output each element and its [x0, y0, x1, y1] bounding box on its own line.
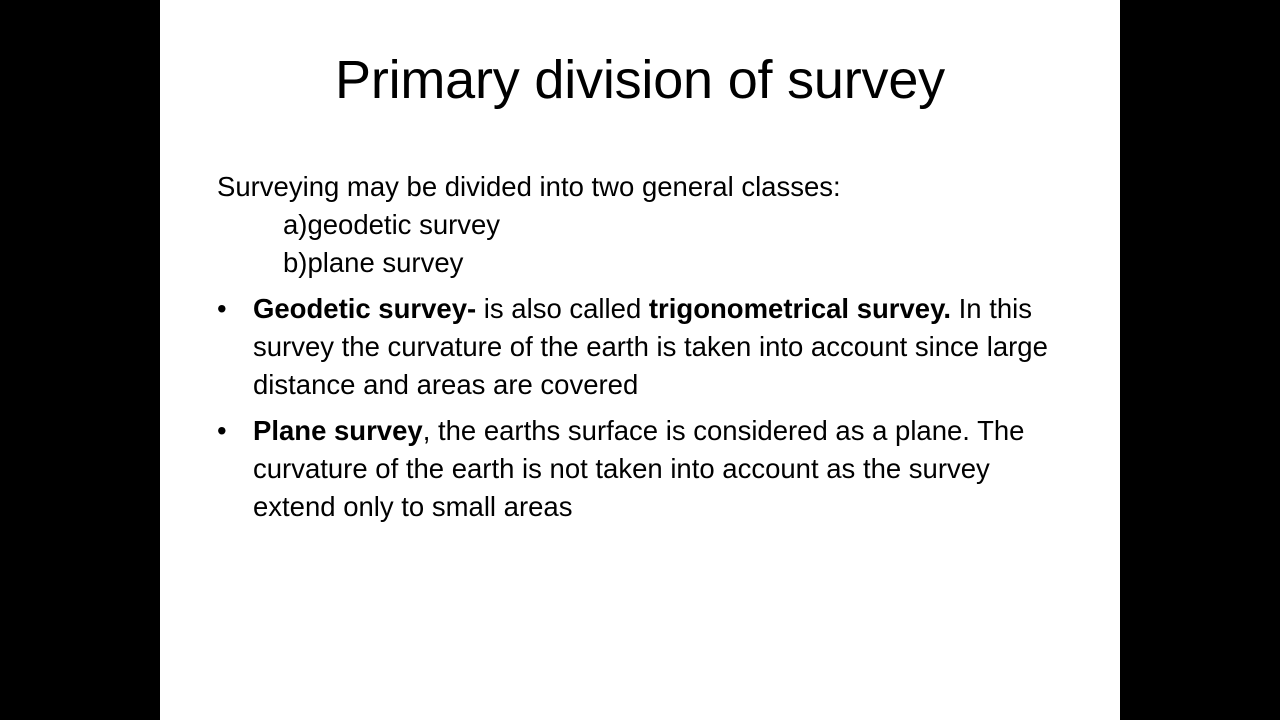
- intro-paragraph: Surveying may be divided into two genera…: [217, 168, 1062, 206]
- slide-title: Primary division of survey: [160, 48, 1120, 112]
- presentation-viewport: Primary division of survey Surveying may…: [0, 0, 1280, 720]
- letterbox-bar-right: [1120, 0, 1280, 720]
- bullet-dot-icon: •: [217, 412, 253, 450]
- slide-canvas: Primary division of survey Surveying may…: [160, 0, 1120, 720]
- letterbox-bar-left: [0, 0, 160, 720]
- bullet-run-0-2: trigonometrical survey.: [649, 293, 951, 324]
- bullet-dot-icon: •: [217, 290, 253, 328]
- slide-body: Surveying may be divided into two genera…: [217, 168, 1062, 526]
- bullet-run-1-0: Plane survey: [253, 415, 423, 446]
- bullet-run-0-0: Geodetic survey-: [253, 293, 476, 324]
- sub-item-a: a)geodetic survey: [217, 206, 1062, 244]
- sub-item-b: b)plane survey: [217, 244, 1062, 282]
- bullet-run-0-1: is also called: [476, 293, 649, 324]
- bullet-item-geodetic-survey: •Geodetic survey- is also called trigono…: [217, 290, 1062, 404]
- bullet-item-plane-survey: •Plane survey, the earths surface is con…: [217, 412, 1062, 526]
